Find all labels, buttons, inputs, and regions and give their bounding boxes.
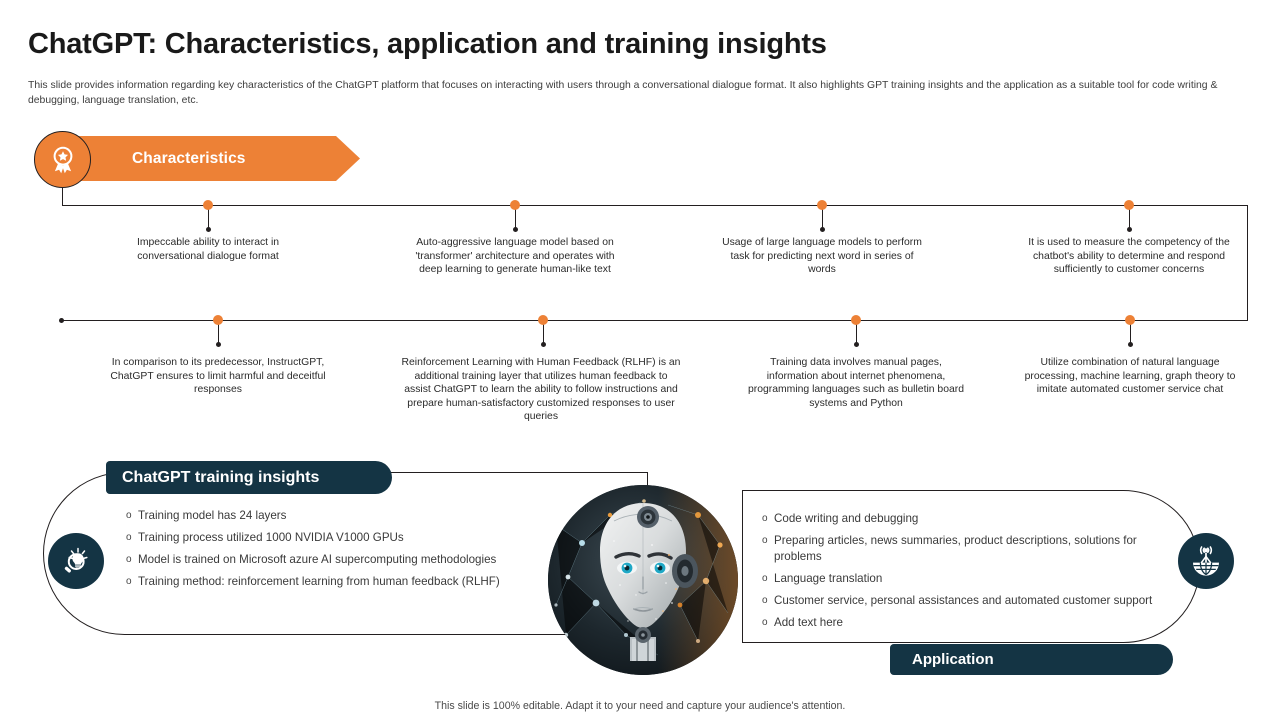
characteristic-item-6: Reinforcement Learning with Human Feedba… (400, 356, 682, 424)
bullet-marker: o (760, 615, 774, 631)
list-item[interactable]: o Training process utilized 1000 NVIDIA … (124, 530, 544, 546)
characteristic-item-8: Utilize combination of natural language … (1019, 356, 1241, 397)
bullet-marker: o (124, 508, 138, 524)
lightbulb-magnifier-icon (48, 533, 104, 589)
timeline-node-dot[interactable] (213, 315, 223, 325)
slide-canvas: ChatGPT: Characteristics, application an… (0, 0, 1280, 720)
list-item[interactable]: o Language translation (760, 571, 1160, 587)
timeline-node-endpoint (216, 342, 221, 347)
timeline-line-row1 (62, 205, 1248, 206)
characteristics-banner-label: Characteristics (132, 150, 246, 168)
application-list: o Code writing and debugging o Preparing… (760, 511, 1160, 637)
timeline-node-dot[interactable] (1125, 315, 1135, 325)
characteristics-banner[interactable]: Characteristics (62, 136, 360, 181)
timeline-node-endpoint (513, 227, 518, 232)
timeline-node-dot[interactable] (817, 200, 827, 210)
timeline-node-endpoint (820, 227, 825, 232)
list-item-label: Language translation (774, 571, 882, 587)
timeline-node-endpoint (541, 342, 546, 347)
list-item[interactable]: o Code writing and debugging (760, 511, 1160, 527)
timeline-node-endpoint (854, 342, 859, 347)
page-subtitle: This slide provides information regardin… (28, 78, 1246, 108)
bullet-marker: o (760, 533, 774, 549)
characteristic-item-5: In comparison to its predecessor, Instru… (107, 356, 329, 397)
timeline-node-dot[interactable] (538, 315, 548, 325)
application-banner[interactable]: Application (890, 644, 1173, 675)
characteristic-item-7: Training data involves manual pages, inf… (745, 356, 967, 410)
bullet-marker: o (760, 571, 774, 587)
list-item[interactable]: o Model is trained on Microsoft azure AI… (124, 552, 544, 568)
bullet-marker: o (124, 530, 138, 546)
list-item-label: Training model has 24 layers (138, 508, 286, 524)
timeline-node-dot[interactable] (203, 200, 213, 210)
characteristic-item-4: It is used to measure the competency of … (1024, 236, 1234, 277)
list-item[interactable]: o Preparing articles, news summaries, pr… (760, 533, 1160, 565)
training-insights-list: o Training model has 24 layers o Trainin… (124, 508, 544, 596)
page-title: ChatGPT: Characteristics, application an… (28, 28, 827, 61)
list-item[interactable]: o Add text here (760, 615, 1160, 631)
list-item[interactable]: o Customer service, personal assistances… (760, 593, 1160, 609)
list-item-label: Add text here (774, 615, 843, 631)
list-item-label: Model is trained on Microsoft azure AI s… (138, 552, 496, 568)
timeline-node-endpoint (1128, 342, 1133, 347)
ai-robot-image (548, 485, 738, 675)
bullet-marker: o (124, 574, 138, 590)
list-item[interactable]: o Training method: reinforcement learnin… (124, 574, 544, 590)
training-insights-banner-label: ChatGPT training insights (122, 469, 319, 487)
timeline-node-dot[interactable] (1124, 200, 1134, 210)
timeline-line-row2 (61, 320, 1248, 321)
list-item-label: Preparing articles, news summaries, prod… (774, 533, 1160, 565)
characteristic-item-3: Usage of large language models to perfor… (717, 236, 927, 277)
bullet-marker: o (124, 552, 138, 568)
application-banner-label: Application (912, 651, 994, 668)
list-item-label: Training method: reinforcement learning … (138, 574, 500, 590)
timeline-node-dot[interactable] (510, 200, 520, 210)
timeline-node-endpoint (206, 227, 211, 232)
award-ribbon-icon (34, 131, 91, 188)
timeline-node-endpoint (1127, 227, 1132, 232)
characteristic-item-2: Auto-aggressive language model based on … (410, 236, 620, 277)
timeline-badge-drop (62, 186, 63, 205)
bullet-marker: o (760, 511, 774, 527)
timeline-node-dot[interactable] (851, 315, 861, 325)
list-item-label: Code writing and debugging (774, 511, 918, 527)
broadcast-globe-icon (1178, 533, 1234, 589)
bullet-marker: o (760, 593, 774, 609)
characteristic-item-1: Impeccable ability to interact in conver… (103, 236, 313, 263)
list-item-label: Training process utilized 1000 NVIDIA V1… (138, 530, 404, 546)
timeline-row2-end-dot (59, 318, 64, 323)
timeline-right-connector (1247, 205, 1248, 320)
list-item-label: Customer service, personal assistances a… (774, 593, 1152, 609)
list-item[interactable]: o Training model has 24 layers (124, 508, 544, 524)
slide-footer-note: This slide is 100% editable. Adapt it to… (0, 700, 1280, 712)
training-insights-banner[interactable]: ChatGPT training insights (106, 461, 392, 494)
